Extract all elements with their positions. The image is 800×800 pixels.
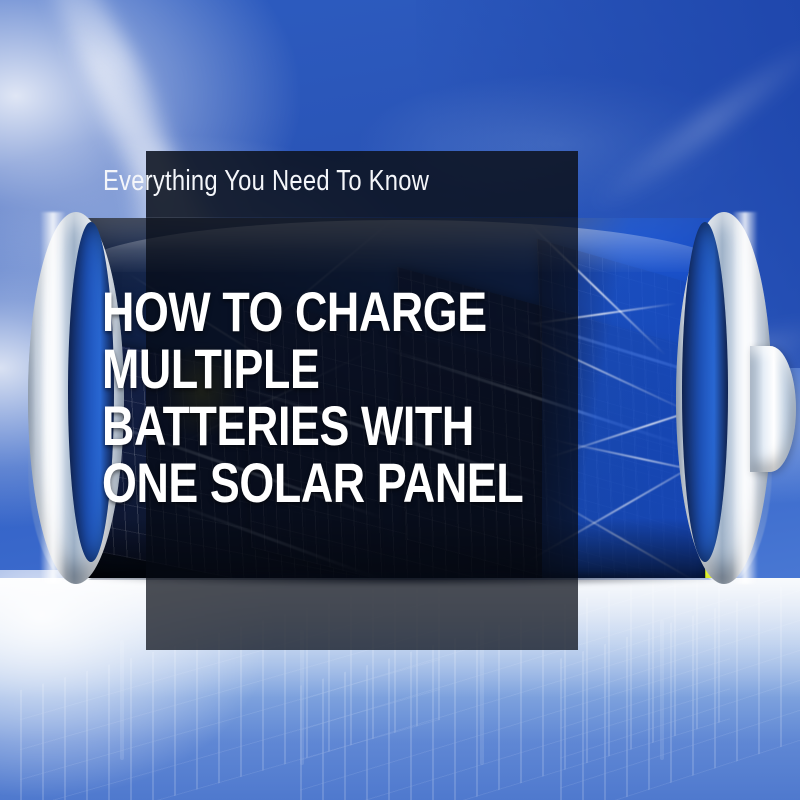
reflected-panel-post: [120, 640, 124, 760]
title-line-3: BATTERIES WITH: [102, 397, 518, 454]
reflected-panel-post: [660, 620, 664, 760]
title-line-4: ONE SOLAR PANEL: [102, 454, 518, 511]
page-title: HOW TO CHARGE MULTIPLE BATTERIES WITH ON…: [102, 283, 622, 511]
cap-highlight-band: [40, 212, 66, 584]
title-line-1: HOW TO CHARGE: [102, 283, 518, 340]
eyebrow-text: Everything You Need To Know: [103, 167, 429, 196]
featured-image-canvas: Everything You Need To Know HOW TO CHARG…: [0, 0, 800, 800]
reflected-panel-post: [300, 630, 304, 765]
title-line-2: MULTIPLE: [102, 340, 518, 397]
cap-inner-ring: [682, 222, 728, 562]
